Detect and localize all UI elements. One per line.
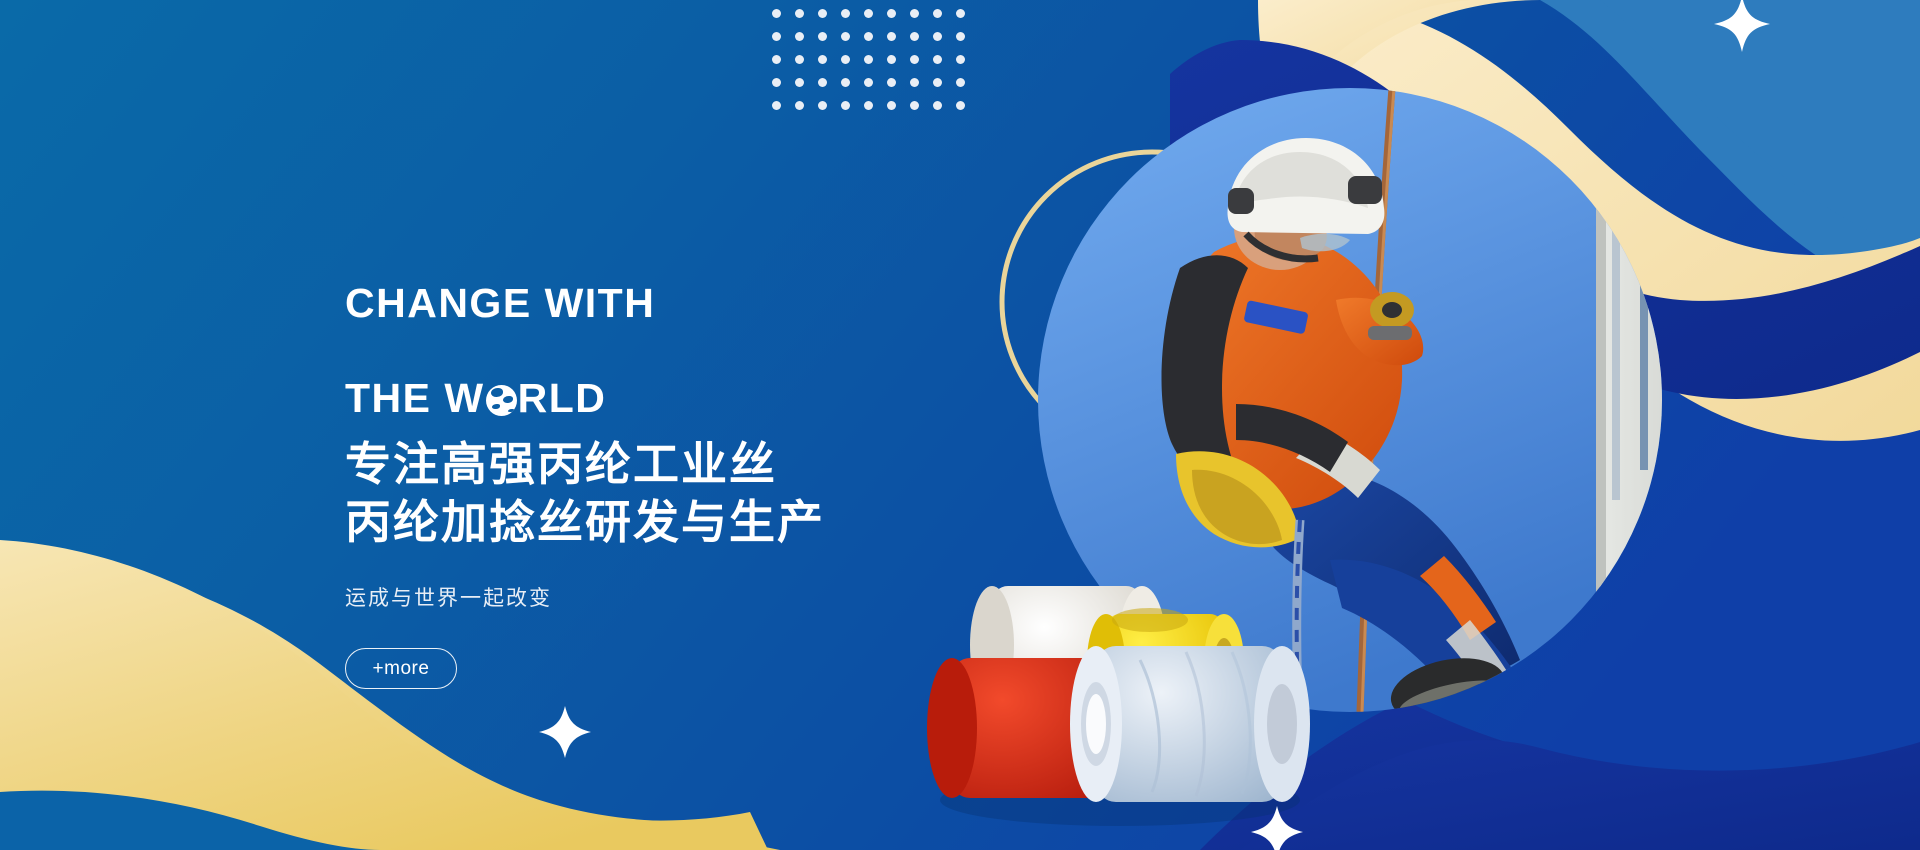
grid-dot xyxy=(864,78,873,87)
sparkle-bottom-center-icon xyxy=(1251,806,1303,850)
kicker-line-1: CHANGE WITH xyxy=(345,280,655,326)
grid-dot xyxy=(933,32,942,41)
grid-dot xyxy=(933,78,942,87)
dot-grid-decoration xyxy=(772,0,979,124)
hero-subtitle: 运成与世界一起改变 xyxy=(345,582,905,612)
grid-dot xyxy=(841,78,850,87)
grid-dot xyxy=(956,101,965,110)
grid-dot xyxy=(818,9,827,18)
hero-copy: CHANGE WITH THE WRLD 专注高强丙纶工业丝 丙纶加捻丝研发与生… xyxy=(345,232,905,689)
grid-dot xyxy=(795,55,804,64)
hero-banner: CHANGE WITH THE WRLD 专注高强丙纶工业丝 丙纶加捻丝研发与生… xyxy=(0,0,1920,850)
grid-dot xyxy=(841,55,850,64)
grid-dot xyxy=(887,78,896,87)
grid-dot xyxy=(818,55,827,64)
globe-icon xyxy=(486,385,517,416)
grid-dot xyxy=(795,32,804,41)
grid-dot xyxy=(864,101,873,110)
grid-dot xyxy=(910,101,919,110)
grid-dot xyxy=(864,55,873,64)
kicker-line-2-before: THE W xyxy=(345,375,485,421)
page-title: 专注高强丙纶工业丝 丙纶加捻丝研发与生产 xyxy=(345,436,905,552)
grid-dot xyxy=(772,9,781,18)
grid-dot xyxy=(887,32,896,41)
grid-dot xyxy=(772,32,781,41)
grid-dot xyxy=(795,101,804,110)
grid-dot xyxy=(910,9,919,18)
grid-dot xyxy=(956,32,965,41)
grid-dot xyxy=(841,9,850,18)
grid-dot xyxy=(933,9,942,18)
grid-dot xyxy=(933,101,942,110)
sparkle-mid-left-icon xyxy=(539,706,591,758)
grid-dot xyxy=(772,78,781,87)
grid-dot xyxy=(956,78,965,87)
grid-dot xyxy=(864,9,873,18)
grid-dot xyxy=(818,101,827,110)
headline-line-1: 专注高强丙纶工业丝 xyxy=(345,436,905,494)
grid-dot xyxy=(841,32,850,41)
grid-dot xyxy=(772,55,781,64)
sparkle-top-right-icon xyxy=(1714,0,1770,52)
grid-dot xyxy=(956,55,965,64)
grid-dot xyxy=(864,32,873,41)
headline-line-2: 丙纶加捻丝研发与生产 xyxy=(345,494,905,552)
grid-dot xyxy=(910,78,919,87)
grid-dot xyxy=(910,55,919,64)
grid-dot xyxy=(818,32,827,41)
grid-dot xyxy=(887,9,896,18)
more-button[interactable]: +more xyxy=(345,648,457,689)
grid-dot xyxy=(956,9,965,18)
grid-dot xyxy=(887,55,896,64)
kicker-eyebrow: CHANGE WITH THE WRLD xyxy=(345,232,905,422)
grid-dot xyxy=(772,101,781,110)
sparkle-layer xyxy=(0,0,1920,850)
grid-dot xyxy=(818,78,827,87)
grid-dot xyxy=(841,101,850,110)
kicker-line-2-after: RLD xyxy=(518,375,607,421)
grid-dot xyxy=(795,78,804,87)
grid-dot xyxy=(887,101,896,110)
grid-dot xyxy=(933,55,942,64)
grid-dot xyxy=(910,32,919,41)
grid-dot xyxy=(795,9,804,18)
